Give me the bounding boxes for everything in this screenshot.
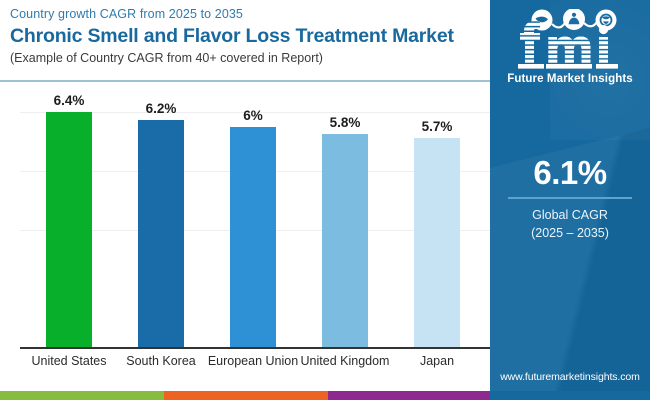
x-axis-line xyxy=(20,347,490,349)
bar-value-label: 6.4% xyxy=(32,93,106,108)
chart-pane: Country growth CAGR from 2025 to 2035 Ch… xyxy=(0,0,490,400)
bar-group[interactable]: 6% xyxy=(230,127,276,347)
bar-group[interactable]: 5.8% xyxy=(322,134,368,347)
fmi-logo-mark xyxy=(504,9,636,71)
footer-color-stripe xyxy=(0,391,490,400)
x-axis-label: Japan xyxy=(387,353,487,369)
bar[interactable] xyxy=(138,120,184,347)
bar-value-label: 5.8% xyxy=(308,115,382,130)
infographic-card: Country growth CAGR from 2025 to 2035 Ch… xyxy=(0,0,650,400)
website-url[interactable]: www.futuremarketinsights.com xyxy=(490,371,650,383)
global-cagr-caption-2: (2025 – 2035) xyxy=(490,224,650,242)
x-axis-label: South Korea xyxy=(111,353,211,369)
logo-tagline: Future Market Insights xyxy=(490,73,650,85)
header-divider xyxy=(0,80,490,82)
bar-value-label: 6% xyxy=(216,108,290,123)
bar-group[interactable]: 6.4% xyxy=(46,112,92,347)
bar[interactable] xyxy=(230,127,276,347)
chart-eyebrow: Country growth CAGR from 2025 to 2035 xyxy=(10,7,480,22)
bar-chart-plot: 6.4%6.2%6%5.8%5.7% xyxy=(0,83,490,349)
x-axis-label: European Union xyxy=(203,353,303,369)
fmi-logo[interactable]: Future Market Insights xyxy=(490,9,650,85)
stripe-green xyxy=(0,391,164,400)
x-axis-label: United States xyxy=(19,353,119,369)
bar-group[interactable]: 5.7% xyxy=(414,138,460,347)
stripe-purple xyxy=(328,391,490,400)
bar[interactable] xyxy=(322,134,368,347)
page-title: Chronic Smell and Flavor Loss Treatment … xyxy=(10,24,480,48)
global-cagr-value: 6.1% xyxy=(490,155,650,191)
bar-value-label: 5.7% xyxy=(400,119,474,134)
brand-panel: Future Market Insights 6.1% Global CAGR … xyxy=(490,0,650,400)
bar-group[interactable]: 6.2% xyxy=(138,120,184,347)
bar[interactable] xyxy=(414,138,460,347)
stat-divider xyxy=(508,197,632,199)
stripe-orange xyxy=(164,391,328,400)
x-axis-category-labels: United StatesSouth KoreaEuropean UnionUn… xyxy=(0,350,490,390)
bar[interactable] xyxy=(46,112,92,347)
chart-header: Country growth CAGR from 2025 to 2035 Ch… xyxy=(0,0,490,81)
global-cagr-caption-1: Global CAGR xyxy=(490,206,650,224)
bar-value-label: 6.2% xyxy=(124,101,198,116)
brand-panel-footer xyxy=(490,391,650,400)
x-axis-label: United Kingdom xyxy=(295,353,395,369)
global-cagr-stat: 6.1% Global CAGR (2025 – 2035) xyxy=(490,155,650,242)
chart-subtitle: (Example of Country CAGR from 40+ covere… xyxy=(10,50,480,66)
